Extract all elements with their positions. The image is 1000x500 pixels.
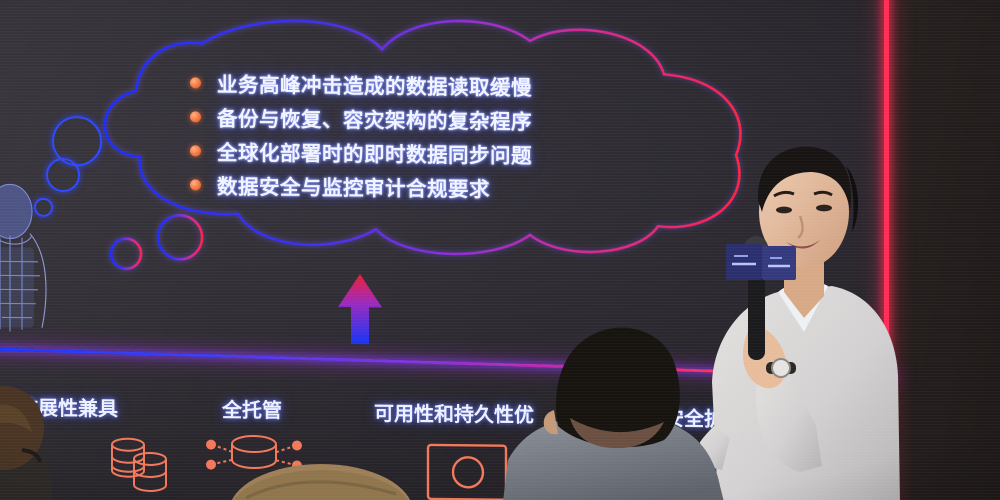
list-item: 数据安全与监控审计合规要求 [190, 167, 620, 206]
audience-edge-left [0, 382, 84, 500]
bullet-dot-icon [190, 77, 201, 88]
bullet-dot-icon [190, 179, 201, 190]
bullet-list: 业务高峰冲击造成的数据读取缓慢 备份与恢复、容灾架构的复杂程序 全球化部署时的即… [190, 65, 620, 206]
bullet-text: 数据安全与监控审计合规要求 [217, 170, 490, 203]
bullet-text: 全球化部署时的即时数据同步问题 [217, 136, 532, 169]
feature-label: 全托管 [222, 394, 282, 424]
bullet-dot-icon [190, 145, 201, 156]
presentation-photo: 业务高峰冲击造成的数据读取缓慢 备份与恢复、容灾架构的复杂程序 全球化部署时的即… [0, 0, 1000, 500]
bullet-dot-icon [190, 111, 201, 122]
list-item: 业务高峰冲击造成的数据读取缓慢 [190, 65, 620, 104]
mic-flag [726, 244, 796, 280]
database-stack-icon [104, 432, 176, 495]
up-arrow-icon [336, 273, 384, 346]
audience-left-head [226, 452, 416, 500]
list-item: 全球化部署时的即时数据同步问题 [190, 133, 620, 172]
audience-center [498, 300, 798, 500]
bullet-text: 备份与恢复、容灾架构的复杂程序 [217, 102, 532, 135]
list-item: 备份与恢复、容灾架构的复杂程序 [190, 99, 620, 138]
bullet-text: 业务高峰冲击造成的数据读取缓慢 [217, 68, 532, 101]
